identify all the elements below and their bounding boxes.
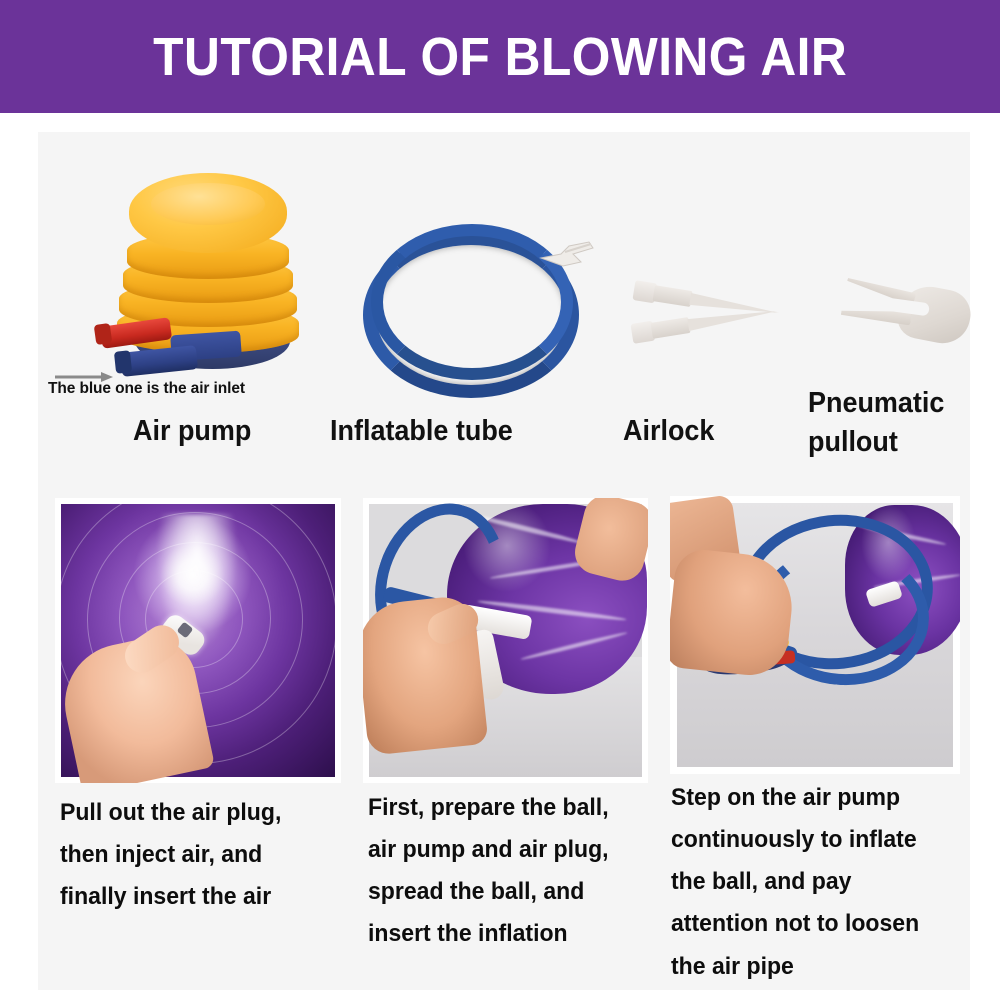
part-label-inflatable-tube: Inflatable tube bbox=[330, 412, 513, 451]
pump-blue-inlet-tip bbox=[114, 350, 132, 374]
hand-inserting-nozzle-into-deflated-purple-ball-photo bbox=[363, 498, 648, 783]
tube-white-connector-icon bbox=[539, 240, 597, 270]
page-title: TUTORIAL OF BLOWING AIR bbox=[153, 26, 847, 88]
pullout-fork-shape bbox=[837, 271, 973, 356]
page-header-banner: TUTORIAL OF BLOWING AIR bbox=[0, 0, 1000, 113]
step-caption-3: Step on the air pump continuously to inf… bbox=[671, 777, 981, 988]
part-label-air-pump: Air pump bbox=[133, 412, 251, 451]
forked-pullout-tool-icon bbox=[818, 272, 978, 367]
white-plug-pair-icon bbox=[628, 272, 808, 372]
tutorial-page: TUTORIAL OF BLOWING AIR bbox=[0, 0, 1000, 1000]
plug-body-shape bbox=[651, 317, 691, 339]
pump-blue-inlet-nozzle bbox=[120, 345, 198, 377]
step-photo-1 bbox=[55, 498, 341, 783]
step-photo-2 bbox=[363, 498, 648, 783]
step-caption-1: Pull out the air plug, then inject air, … bbox=[60, 792, 361, 918]
airlock-plug-shape bbox=[630, 324, 633, 344]
part-label-airlock: Airlock bbox=[623, 412, 714, 451]
photo-background bbox=[369, 504, 642, 777]
floor-surface bbox=[677, 503, 953, 767]
hand-pressing-foot-pump-connected-to-ball-photo bbox=[670, 496, 960, 774]
hand-pulling-air-plug-from-purple-ball-photo bbox=[55, 498, 341, 783]
purple-ball-surface bbox=[61, 504, 335, 777]
airlock-plug-shape bbox=[632, 280, 635, 300]
parts-overview-row: The blue one is the air inlet bbox=[38, 132, 970, 482]
step-caption-2: First, prepare the ball, air pump and ai… bbox=[368, 787, 664, 956]
coiled-blue-tube-icon bbox=[363, 222, 593, 387]
part-label-pneumatic-pullout: Pneumatic pullout bbox=[808, 384, 985, 462]
plug-body-shape bbox=[653, 285, 693, 307]
air-inlet-note: The blue one is the air inlet bbox=[48, 380, 348, 398]
step-photo-3 bbox=[670, 496, 960, 774]
pump-red-outlet-tip bbox=[94, 323, 113, 345]
content-card: The blue one is the air inlet bbox=[38, 132, 970, 990]
foot-air-pump-icon bbox=[93, 157, 313, 382]
pump-top-ring-shape bbox=[151, 183, 265, 225]
